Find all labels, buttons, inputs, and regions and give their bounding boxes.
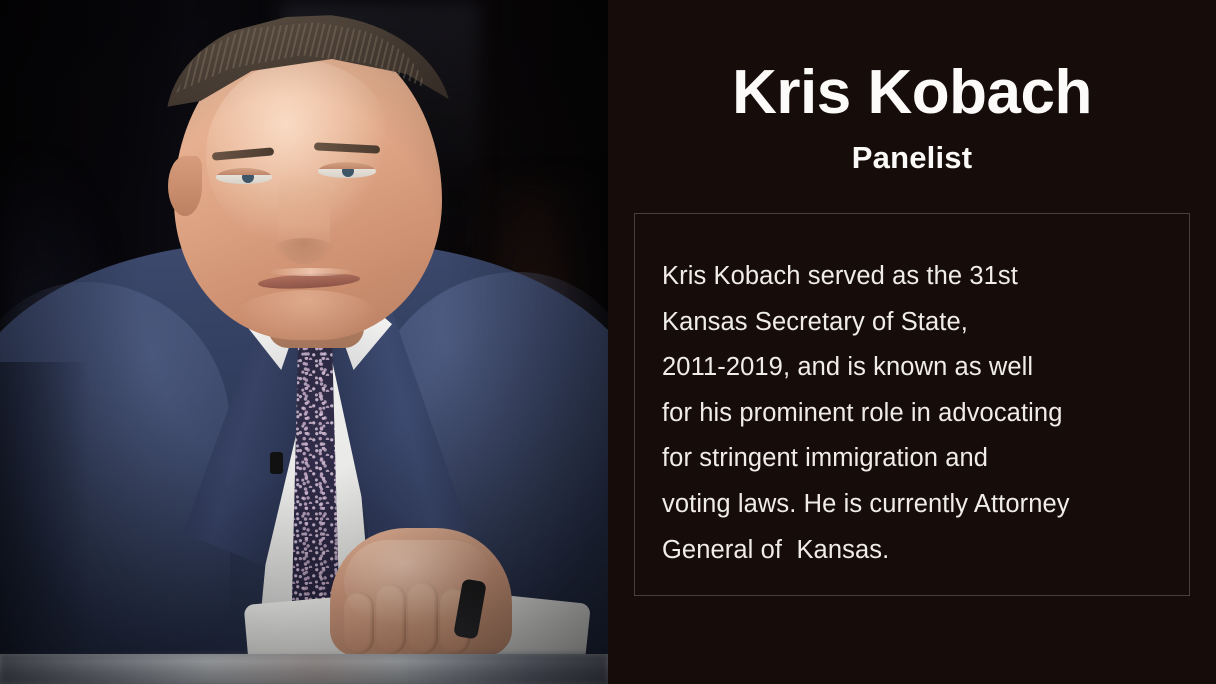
chin: [236, 290, 378, 342]
table-reflection: [0, 654, 608, 684]
suit-shadow-left: [0, 362, 90, 662]
eye-right: [318, 162, 376, 178]
eye-left: [216, 168, 272, 184]
lip-highlight: [268, 268, 354, 276]
speaker-profile-slide: Kris Kobach Panelist Kris Kobach served …: [0, 0, 1216, 684]
lapel-microphone: [270, 452, 283, 474]
speaker-name: Kris Kobach: [608, 62, 1216, 124]
speaker-photo: [0, 0, 608, 684]
eyelid-right: [318, 162, 376, 169]
nose-shadow: [272, 238, 336, 264]
ear: [168, 156, 202, 216]
speaker-info-panel: Kris Kobach Panelist Kris Kobach served …: [608, 0, 1216, 684]
speaker-bio-text: Kris Kobach served as the 31st Kansas Se…: [662, 254, 1174, 573]
speaker-bio-box: Kris Kobach served as the 31st Kansas Se…: [634, 213, 1190, 596]
eyelid-left: [216, 168, 272, 175]
speaker-role: Panelist: [608, 142, 1216, 173]
